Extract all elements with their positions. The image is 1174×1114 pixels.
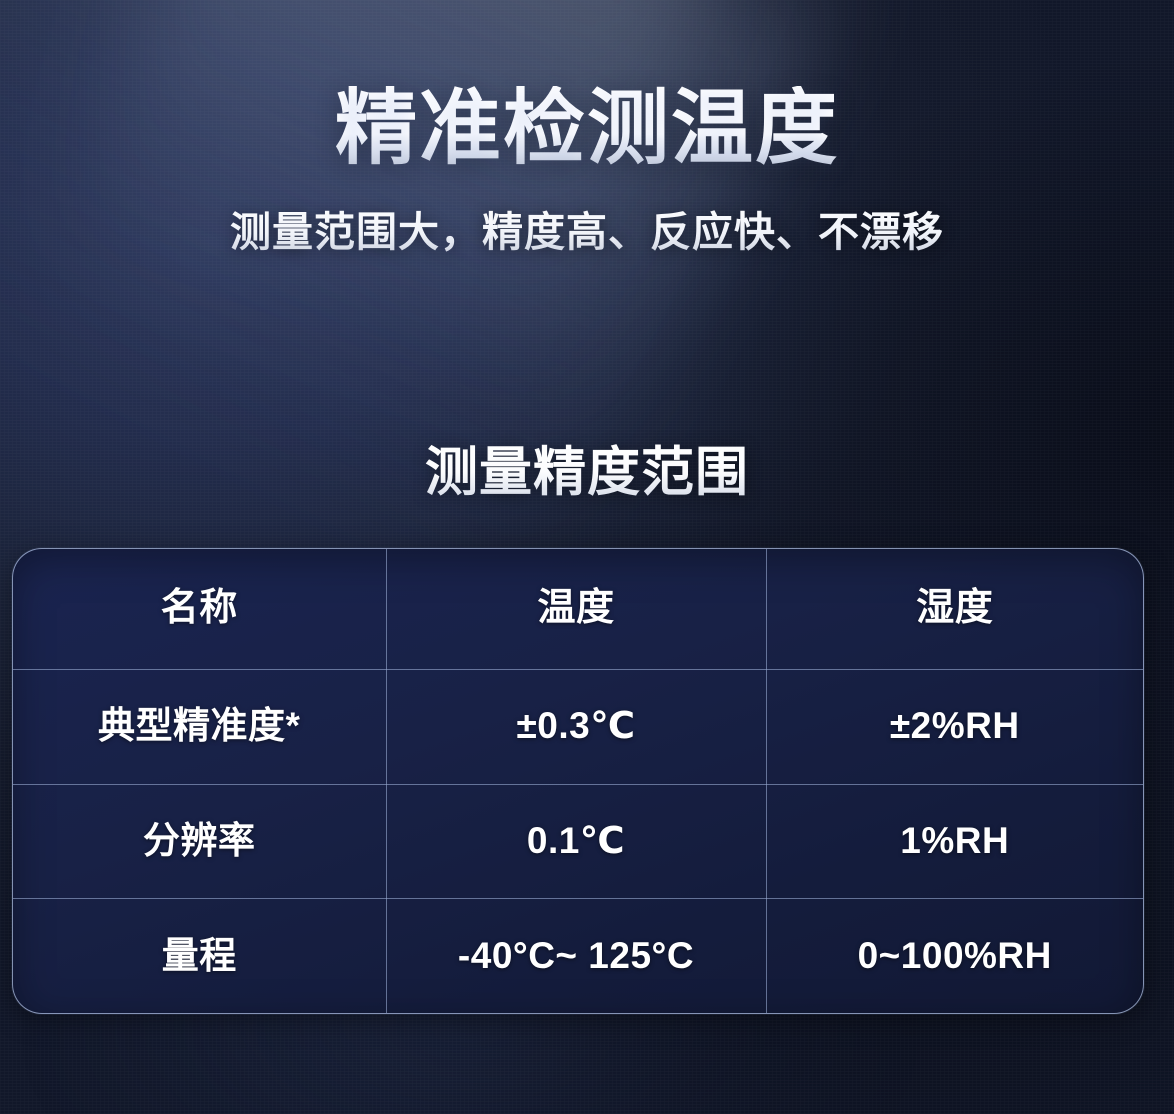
cell-text: ±2%RH xyxy=(767,706,1144,747)
cell-typical-accuracy-humidity: ±2%RH xyxy=(766,670,1143,785)
cell-text: 0.1℃ xyxy=(387,821,766,862)
page-title: 精准检测温度 xyxy=(0,86,1174,172)
cell-text: 1%RH xyxy=(767,821,1144,862)
table-header: 名称 温度 湿度 xyxy=(13,549,1143,670)
table-header-row: 名称 温度 湿度 xyxy=(13,549,1143,670)
cell-resolution-humidity: 1%RH xyxy=(766,784,1143,899)
column-header-name-label: 名称 xyxy=(13,588,386,630)
cell-typical-accuracy-name: 典型精准度* xyxy=(13,670,386,785)
table-row: 分辨率 0.1℃ 1%RH xyxy=(13,784,1143,899)
section-heading: 测量精度范围 xyxy=(0,430,1174,506)
cell-range-temperature: -40°C~ 125°C xyxy=(386,899,766,1014)
column-header-humidity: 湿度 xyxy=(766,549,1143,670)
product-spec-page: 精准检测温度 测量范围大，精度高、反应快、不漂移 测量精度范围 名称 温度 湿度 xyxy=(0,0,1174,1114)
measurement-accuracy-table: 名称 温度 湿度 典型精准度* ±0.3℃ xyxy=(13,549,1143,1013)
hero-block: 精准检测温度 测量范围大，精度高、反应快、不漂移 xyxy=(0,86,1174,258)
cell-text: -40°C~ 125°C xyxy=(387,936,766,977)
column-header-name: 名称 xyxy=(13,549,386,670)
column-header-temperature: 温度 xyxy=(386,549,766,670)
table-body: 典型精准度* ±0.3℃ ±2%RH 分辨率 0.1℃ xyxy=(13,670,1143,1014)
cell-resolution-name: 分辨率 xyxy=(13,784,386,899)
table-row: 典型精准度* ±0.3℃ ±2%RH xyxy=(13,670,1143,785)
spec-table-container: 名称 温度 湿度 典型精准度* ±0.3℃ xyxy=(12,548,1144,1014)
cell-typical-accuracy-temperature: ±0.3℃ xyxy=(386,670,766,785)
table-row: 量程 -40°C~ 125°C 0~100%RH xyxy=(13,899,1143,1014)
cell-text: 量程 xyxy=(13,936,386,977)
cell-text: ±0.3℃ xyxy=(387,706,766,747)
column-header-humidity-label: 湿度 xyxy=(767,588,1144,630)
cell-range-name: 量程 xyxy=(13,899,386,1014)
cell-text: 典型精准度* xyxy=(13,706,386,747)
cell-resolution-temperature: 0.1℃ xyxy=(386,784,766,899)
cell-text: 0~100%RH xyxy=(767,936,1144,977)
cell-range-humidity: 0~100%RH xyxy=(766,899,1143,1014)
page-subtitle: 测量范围大，精度高、反应快、不漂移 xyxy=(0,198,1174,258)
cell-text: 分辨率 xyxy=(13,821,386,862)
column-header-temperature-label: 温度 xyxy=(387,588,766,630)
